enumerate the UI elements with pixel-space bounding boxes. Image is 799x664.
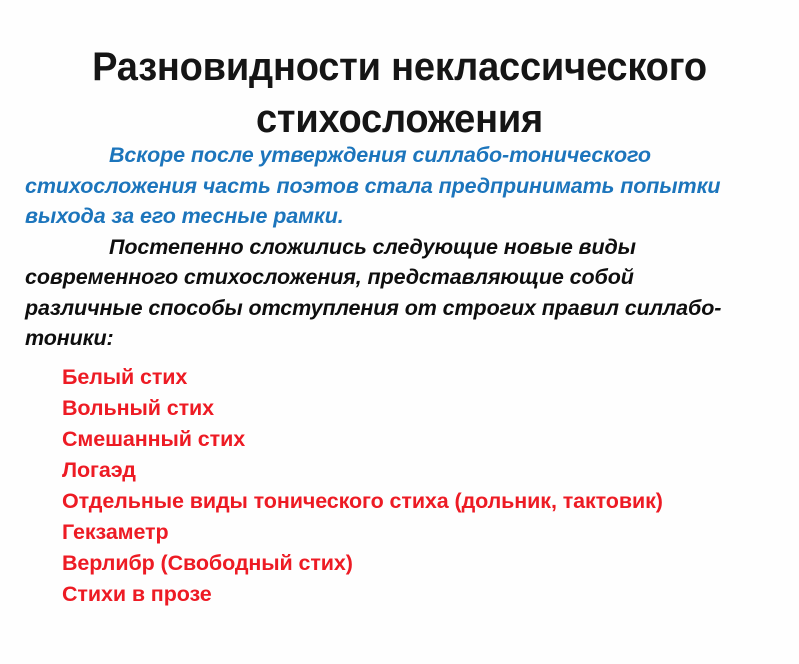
list-item: Белый стих [62, 362, 782, 393]
list-item: Верлибр (Свободный стих) [62, 548, 782, 579]
list-item: Стихи в прозе [62, 579, 782, 610]
list-item: Гекзаметр [62, 517, 782, 548]
list-item: Логаэд [62, 455, 782, 486]
list-item: Смешанный стих [62, 424, 782, 455]
list-item: Вольный стих [62, 393, 782, 424]
page-title-line-1: Разновидности неклассического [48, 41, 750, 93]
slide-body: Вскоре после утверждения силлабо-тоничес… [25, 140, 750, 354]
page-title: Разновидности неклассического стихосложе… [48, 41, 750, 145]
intro-paragraph: Вскоре после утверждения силлабо-тоничес… [25, 140, 750, 232]
presentation-slide: Разновидности неклассического стихосложе… [0, 0, 799, 664]
list-item: Отдельные виды тонического стиха (дольни… [62, 486, 782, 517]
verse-types-list: Белый стих Вольный стих Смешанный стих Л… [62, 362, 782, 610]
lead-in-paragraph: Постепенно сложились следующие новые вид… [25, 232, 750, 354]
page-title-line-2: стихосложения [48, 93, 750, 145]
